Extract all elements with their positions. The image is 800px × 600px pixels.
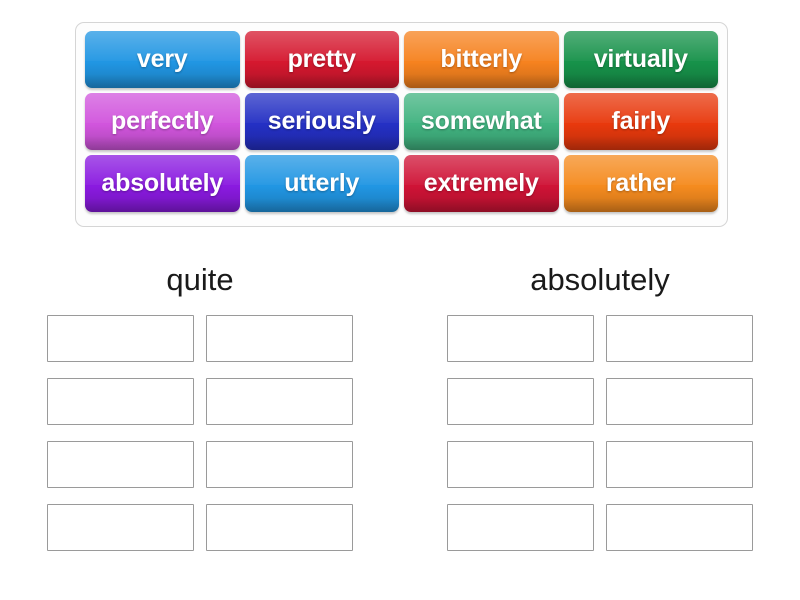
word-tile-label: extremely: [424, 169, 539, 198]
word-tile-label: utterly: [284, 169, 359, 198]
word-tile[interactable]: perfectly: [85, 93, 240, 150]
word-tile-label: absolutely: [101, 169, 223, 198]
word-tile-label: virtually: [594, 45, 688, 74]
dropzone-slot[interactable]: [47, 504, 194, 551]
dropzone-slot[interactable]: [206, 504, 353, 551]
dropzone-grid: [0, 315, 400, 551]
word-tile[interactable]: very: [85, 31, 240, 88]
word-tile[interactable]: seriously: [245, 93, 400, 150]
group-headings-row: quiteabsolutely: [0, 252, 800, 551]
word-tile-label: fairly: [611, 107, 670, 136]
word-tile[interactable]: fairly: [564, 93, 719, 150]
dropzone-slot[interactable]: [447, 441, 594, 488]
word-bank-container: veryprettybitterlyvirtuallyperfectlyseri…: [75, 22, 728, 227]
dropzone-slot[interactable]: [47, 315, 194, 362]
group-sort-columns: quiteabsolutely: [0, 252, 800, 551]
group-column: quite: [0, 252, 400, 551]
dropzone-slot[interactable]: [606, 504, 753, 551]
dropzone-grid: [400, 315, 800, 551]
dropzone-slot[interactable]: [206, 315, 353, 362]
word-tile[interactable]: utterly: [245, 155, 400, 212]
group-column: absolutely: [400, 252, 800, 551]
word-tile-label: pretty: [288, 45, 356, 74]
word-tile-label: bitterly: [440, 45, 522, 74]
dropzone-slot[interactable]: [206, 378, 353, 425]
dropzone-slot[interactable]: [447, 378, 594, 425]
dropzone-slot[interactable]: [606, 315, 753, 362]
word-tile[interactable]: rather: [564, 155, 719, 212]
dropzone-slot[interactable]: [206, 441, 353, 488]
word-tile[interactable]: bitterly: [404, 31, 559, 88]
dropzone-slot[interactable]: [47, 378, 194, 425]
word-tile[interactable]: virtually: [564, 31, 719, 88]
dropzone-slot[interactable]: [606, 441, 753, 488]
word-tile[interactable]: absolutely: [85, 155, 240, 212]
word-tile-label: very: [137, 45, 188, 74]
dropzone-slot[interactable]: [606, 378, 753, 425]
word-tile[interactable]: pretty: [245, 31, 400, 88]
word-tile-label: seriously: [268, 107, 376, 136]
word-tile-label: rather: [606, 169, 676, 198]
dropzone-slot[interactable]: [47, 441, 194, 488]
word-tile-grid: veryprettybitterlyvirtuallyperfectlyseri…: [85, 31, 718, 218]
group-heading: quite: [0, 252, 400, 315]
dropzone-slot[interactable]: [447, 315, 594, 362]
dropzone-slot[interactable]: [447, 504, 594, 551]
word-tile[interactable]: extremely: [404, 155, 559, 212]
activity-page: veryprettybitterlyvirtuallyperfectlyseri…: [0, 0, 800, 600]
word-tile-label: somewhat: [421, 107, 542, 136]
word-tile-label: perfectly: [111, 107, 213, 136]
word-tile[interactable]: somewhat: [404, 93, 559, 150]
group-heading: absolutely: [400, 252, 800, 315]
